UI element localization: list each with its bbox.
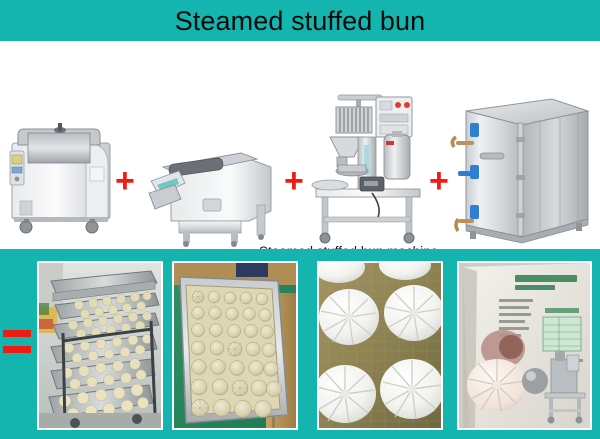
photo-finished-steamed-buns xyxy=(317,261,443,430)
title-banner: Steamed stuffed bun xyxy=(0,0,600,41)
equals-bar-top xyxy=(3,330,31,337)
page-title: Steamed stuffed bun xyxy=(0,2,600,40)
machine-equation-row: + xyxy=(0,41,600,247)
vegetable-cutter-image xyxy=(145,141,275,247)
plus-operator-1: + xyxy=(115,164,135,198)
dough-mixer-image xyxy=(8,119,116,235)
photo-bun-rack-trolley xyxy=(37,261,163,430)
plus-operator-2: + xyxy=(284,164,304,198)
equals-bar-bottom xyxy=(3,346,31,353)
photo-tray-of-raw-buns xyxy=(172,261,298,430)
plus-operator-3: + xyxy=(429,164,449,198)
equals-operator xyxy=(3,330,31,354)
steaming-cabinet-image xyxy=(448,93,593,247)
photo-catalog-brochure xyxy=(457,261,592,430)
bun-machine-image xyxy=(310,93,430,244)
